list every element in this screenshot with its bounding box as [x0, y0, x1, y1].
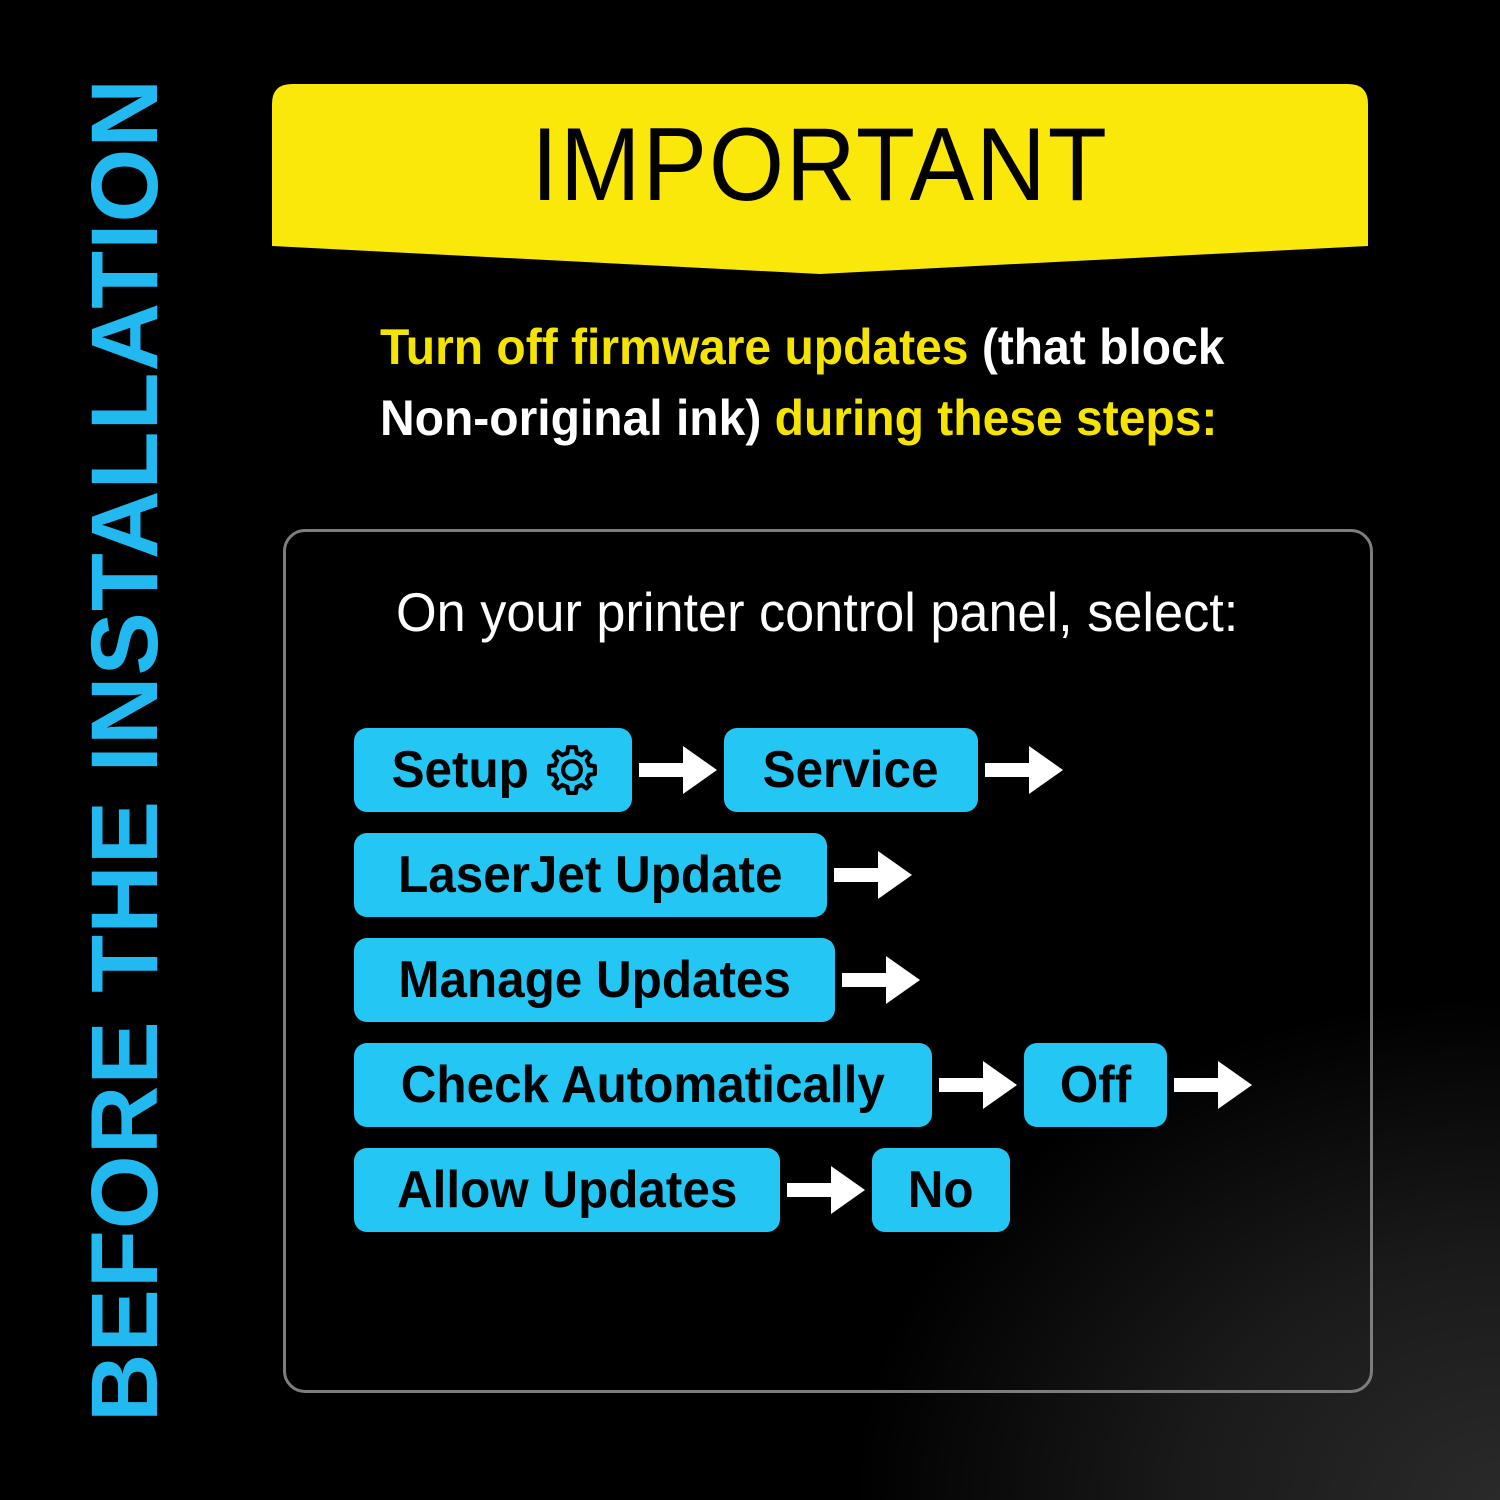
infographic-canvas: BEFORE THE INSTALLATION IMPORTANT Turn o…	[0, 0, 1500, 1500]
menu-option-label: Service	[763, 740, 939, 800]
menu-option-allow-updates[interactable]: Allow Updates	[354, 1148, 780, 1232]
panel-heading: On your printer control panel, select:	[396, 580, 1238, 644]
menu-option-no[interactable]: No	[872, 1148, 1009, 1232]
gear-icon	[546, 744, 598, 796]
step-row: Allow Updates No	[354, 1148, 1364, 1232]
headline-part-3: during these steps:	[761, 390, 1217, 446]
important-banner-label: IMPORTANT	[310, 84, 1329, 246]
steps-list: Setup Service LaserJet Update Manage Upd…	[354, 728, 1364, 1253]
menu-option-manage-updates[interactable]: Manage Updates	[354, 938, 835, 1022]
menu-option-label: No	[908, 1160, 974, 1220]
menu-option-label: Manage Updates	[398, 950, 791, 1010]
headline: Turn off firmware updates (that block No…	[380, 312, 1244, 454]
arrow-right-icon	[632, 728, 724, 812]
step-row: Check Automatically Off	[354, 1043, 1364, 1127]
menu-option-laserjet-update[interactable]: LaserJet Update	[354, 833, 827, 917]
menu-option-label: Allow Updates	[397, 1160, 737, 1220]
vertical-title: BEFORE THE INSTALLATION	[78, 78, 173, 1422]
menu-option-off[interactable]: Off	[1024, 1043, 1167, 1127]
step-row: LaserJet Update	[354, 833, 1364, 917]
vertical-title-container: BEFORE THE INSTALLATION	[0, 0, 250, 1500]
menu-option-label: Check Automatically	[401, 1055, 885, 1115]
menu-option-setup[interactable]: Setup	[354, 728, 632, 812]
step-row: Setup Service	[354, 728, 1364, 812]
arrow-right-icon	[978, 728, 1070, 812]
menu-option-label: LaserJet Update	[398, 845, 782, 905]
headline-part-1: Turn off firmware updates	[380, 319, 982, 375]
arrow-right-icon	[1167, 1043, 1259, 1127]
arrow-right-icon	[835, 938, 927, 1022]
menu-option-label: Off	[1059, 1055, 1130, 1115]
important-banner: IMPORTANT	[272, 84, 1368, 274]
menu-option-label: Setup	[392, 740, 529, 800]
step-row: Manage Updates	[354, 938, 1364, 1022]
arrow-right-icon	[780, 1148, 872, 1232]
menu-option-service[interactable]: Service	[724, 728, 977, 812]
arrow-right-icon	[827, 833, 919, 917]
menu-option-check-automatically[interactable]: Check Automatically	[354, 1043, 932, 1127]
arrow-right-icon	[932, 1043, 1024, 1127]
instruction-panel: On your printer control panel, select: S…	[283, 529, 1373, 1393]
